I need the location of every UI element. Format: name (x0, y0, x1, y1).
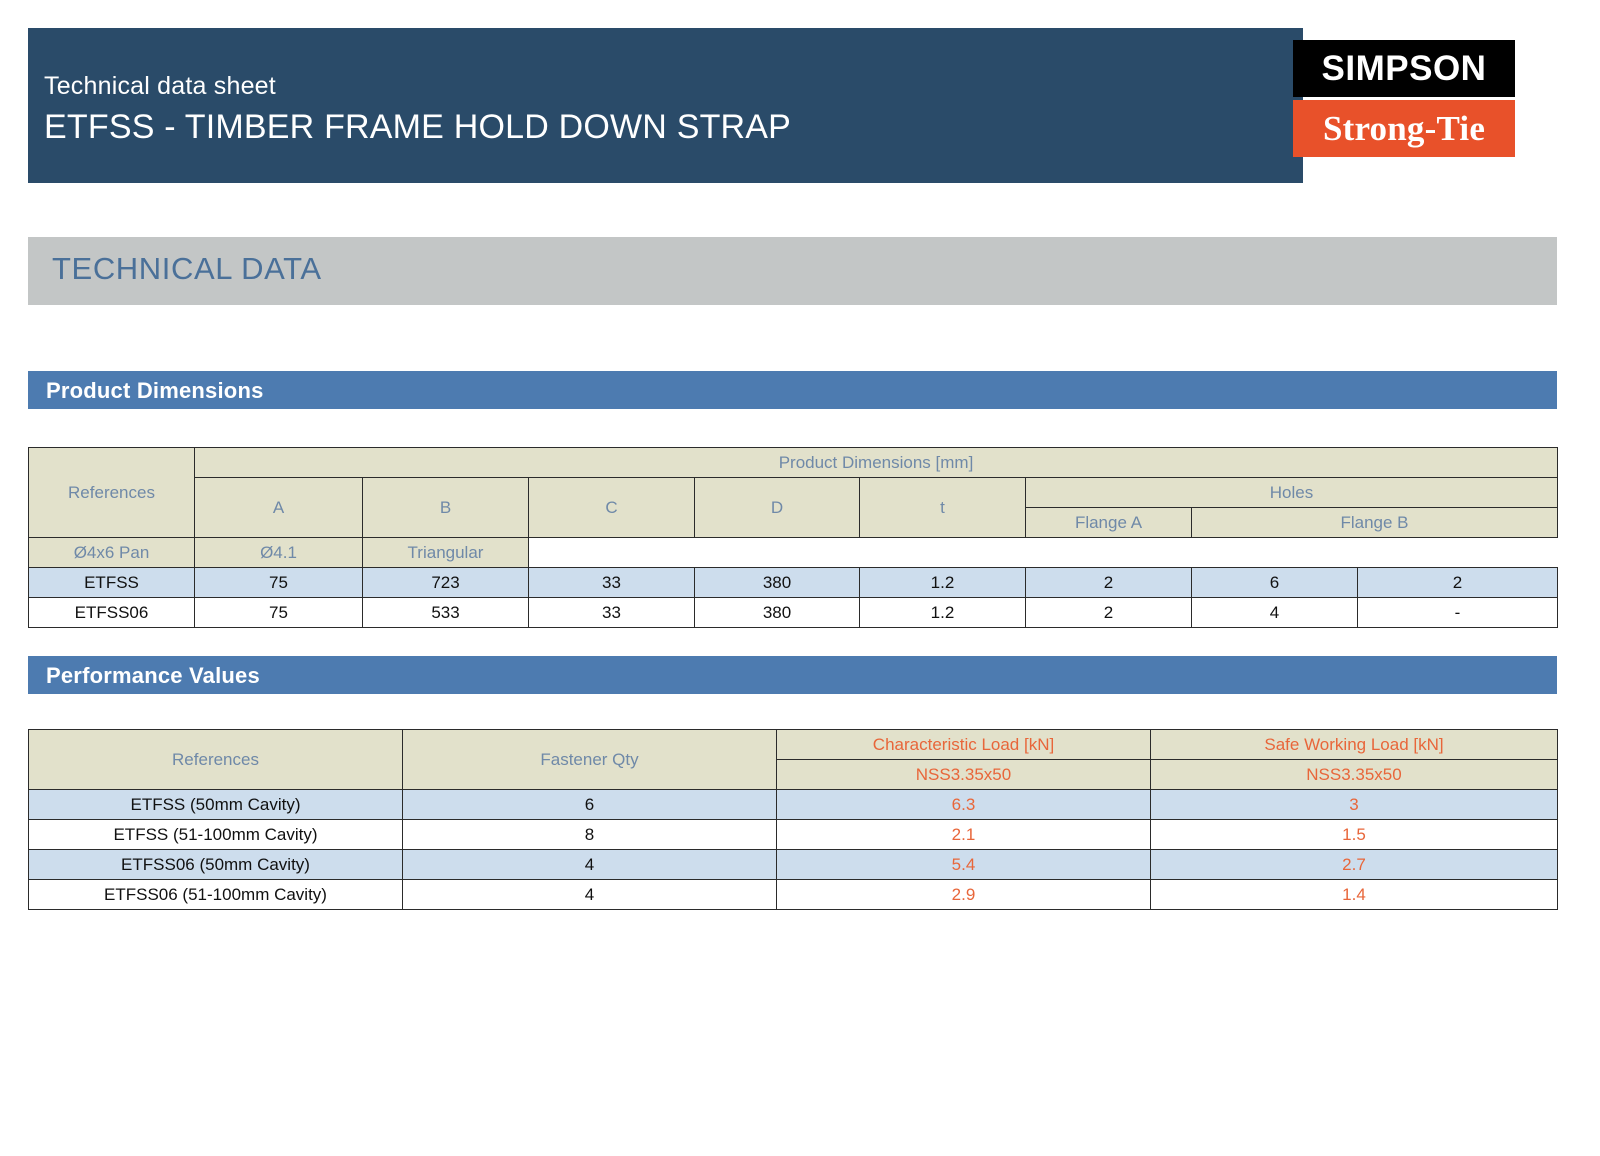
col-hole-41-header: Ø4.1 (195, 538, 363, 568)
document-title: ETFSS - TIMBER FRAME HOLD DOWN STRAP (44, 108, 791, 147)
cell-reference: ETFSS06 (51-100mm Cavity) (29, 880, 403, 910)
col-B-header: B (363, 478, 529, 538)
cell-safe-working-load: 3 (1151, 790, 1558, 820)
cell-safe-working-load: 1.5 (1151, 820, 1558, 850)
cell-reference: ETFSS (51-100mm Cavity) (29, 820, 403, 850)
table-row: ETFSS06 (50mm Cavity) 4 5.4 2.7 (29, 850, 1558, 880)
table-header-row: A B C D t Holes (29, 478, 1558, 508)
cell-A: 75 (195, 598, 363, 628)
table-row: ETFSS06 (51-100mm Cavity) 4 2.9 1.4 (29, 880, 1558, 910)
cell-t: 1.2 (860, 598, 1026, 628)
table-row: ETFSS 75 723 33 380 1.2 2 6 2 (29, 568, 1558, 598)
col-group-flange-b: Flange B (1192, 508, 1558, 538)
col-group-flange-a: Flange A (1026, 508, 1192, 538)
col-references-header: References (29, 448, 195, 538)
cell-fastener-qty: 4 (403, 880, 777, 910)
cell-D: 380 (695, 568, 860, 598)
cell-flange-a-pan: 2 (1026, 598, 1192, 628)
cell-t: 1.2 (860, 568, 1026, 598)
col-hole-triangular-header: Triangular (363, 538, 529, 568)
col-hole-pan-header: Ø4x6 Pan (29, 538, 195, 568)
col-A-header: A (195, 478, 363, 538)
cell-characteristic-load: 6.3 (777, 790, 1151, 820)
cell-characteristic-load: 2.1 (777, 820, 1151, 850)
cell-flange-b-triangular: - (1358, 598, 1558, 628)
table-header-row: Ø4x6 Pan Ø4.1 Triangular (29, 538, 1558, 568)
cell-D: 380 (695, 598, 860, 628)
section-title-performance-values: Performance Values (46, 663, 260, 689)
table-row: ETFSS (50mm Cavity) 6 6.3 3 (29, 790, 1558, 820)
technical-data-label: TECHNICAL DATA (52, 251, 322, 287)
cell-flange-b-triangular: 2 (1358, 568, 1558, 598)
table-header-row: References Product Dimensions [mm] (29, 448, 1558, 478)
logo-simpson-text: SIMPSON (1293, 40, 1515, 97)
col-safe-working-fastener-header: NSS3.35x50 (1151, 760, 1558, 790)
cell-characteristic-load: 2.9 (777, 880, 1151, 910)
document-header-bar (28, 28, 1303, 183)
col-safe-working-load-header: Safe Working Load [kN] (1151, 730, 1558, 760)
col-C-header: C (529, 478, 695, 538)
col-t-header: t (860, 478, 1026, 538)
section-title-product-dimensions: Product Dimensions (46, 378, 264, 404)
table-row: ETFSS (51-100mm Cavity) 8 2.1 1.5 (29, 820, 1558, 850)
performance-values-table: References Fastener Qty Characteristic L… (28, 729, 1558, 910)
cell-reference: ETFSS06 (50mm Cavity) (29, 850, 403, 880)
col-group-product-dimensions: Product Dimensions [mm] (195, 448, 1558, 478)
col-characteristic-fastener-header: NSS3.35x50 (777, 760, 1151, 790)
document-subtitle: Technical data sheet (44, 72, 276, 101)
col-characteristic-load-header: Characteristic Load [kN] (777, 730, 1151, 760)
cell-fastener-qty: 4 (403, 850, 777, 880)
cell-reference: ETFSS06 (29, 598, 195, 628)
cell-B: 723 (363, 568, 529, 598)
cell-C: 33 (529, 568, 695, 598)
cell-C: 33 (529, 598, 695, 628)
product-dimensions-table: References Product Dimensions [mm] A B C… (28, 447, 1558, 628)
col-group-holes: Holes (1026, 478, 1558, 508)
cell-A: 75 (195, 568, 363, 598)
table-header-row: References Fastener Qty Characteristic L… (29, 730, 1558, 760)
cell-safe-working-load: 1.4 (1151, 880, 1558, 910)
col-D-header: D (695, 478, 860, 538)
cell-reference: ETFSS (50mm Cavity) (29, 790, 403, 820)
cell-flange-b-41: 4 (1192, 598, 1358, 628)
col-fastener-qty-header: Fastener Qty (403, 730, 777, 790)
cell-safe-working-load: 2.7 (1151, 850, 1558, 880)
cell-fastener-qty: 8 (403, 820, 777, 850)
cell-flange-b-41: 6 (1192, 568, 1358, 598)
cell-B: 533 (363, 598, 529, 628)
cell-flange-a-pan: 2 (1026, 568, 1192, 598)
cell-fastener-qty: 6 (403, 790, 777, 820)
cell-characteristic-load: 5.4 (777, 850, 1151, 880)
col-references-header: References (29, 730, 403, 790)
logo-strong-tie-text: Strong-Tie (1293, 100, 1515, 157)
table-row: ETFSS06 75 533 33 380 1.2 2 4 - (29, 598, 1558, 628)
simpson-strong-tie-logo: SIMPSON Strong-Tie (1293, 40, 1515, 180)
cell-reference: ETFSS (29, 568, 195, 598)
